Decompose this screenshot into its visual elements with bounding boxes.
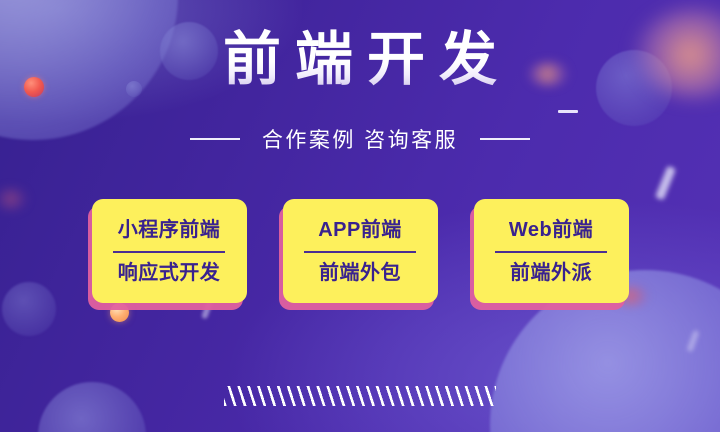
service-card-2-line1: APP前端 xyxy=(318,218,402,242)
service-card-1[interactable]: 小程序前端 响应式开发 xyxy=(92,199,247,303)
service-card-list: 小程序前端 响应式开发 APP前端 前端外包 Web前端 前端外派 xyxy=(0,199,720,303)
subtitle-rule-right xyxy=(480,138,530,140)
card-divider xyxy=(113,251,225,253)
card-divider xyxy=(495,251,607,253)
service-card-3[interactable]: Web前端 前端外派 xyxy=(474,199,629,303)
page-title: 前端开发 xyxy=(0,28,720,93)
service-card-3-wrap: Web前端 前端外派 xyxy=(474,199,629,303)
subtitle-rule-left xyxy=(190,138,240,140)
service-card-1-line2: 响应式开发 xyxy=(118,261,221,285)
promo-banner: 前端开发 合作案例 咨询客服 小程序前端 响应式开发 APP前端 xyxy=(0,0,720,432)
subtitle-row: 合作案例 咨询客服 xyxy=(0,124,720,154)
diagonal-stripes xyxy=(224,386,496,406)
card-divider xyxy=(304,251,416,253)
subtitle-text: 合作案例 咨询客服 xyxy=(262,124,458,154)
service-card-1-wrap: 小程序前端 响应式开发 xyxy=(92,199,247,303)
service-card-2-wrap: APP前端 前端外包 xyxy=(283,199,438,303)
service-card-2[interactable]: APP前端 前端外包 xyxy=(283,199,438,303)
diagonal-stripes-band xyxy=(0,386,720,406)
banner-content: 前端开发 合作案例 咨询客服 小程序前端 响应式开发 APP前端 xyxy=(0,0,720,432)
service-card-2-line2: 前端外包 xyxy=(319,261,401,285)
service-card-3-line1: Web前端 xyxy=(509,218,593,242)
service-card-1-line1: 小程序前端 xyxy=(118,218,221,242)
service-card-3-line2: 前端外派 xyxy=(510,261,592,285)
